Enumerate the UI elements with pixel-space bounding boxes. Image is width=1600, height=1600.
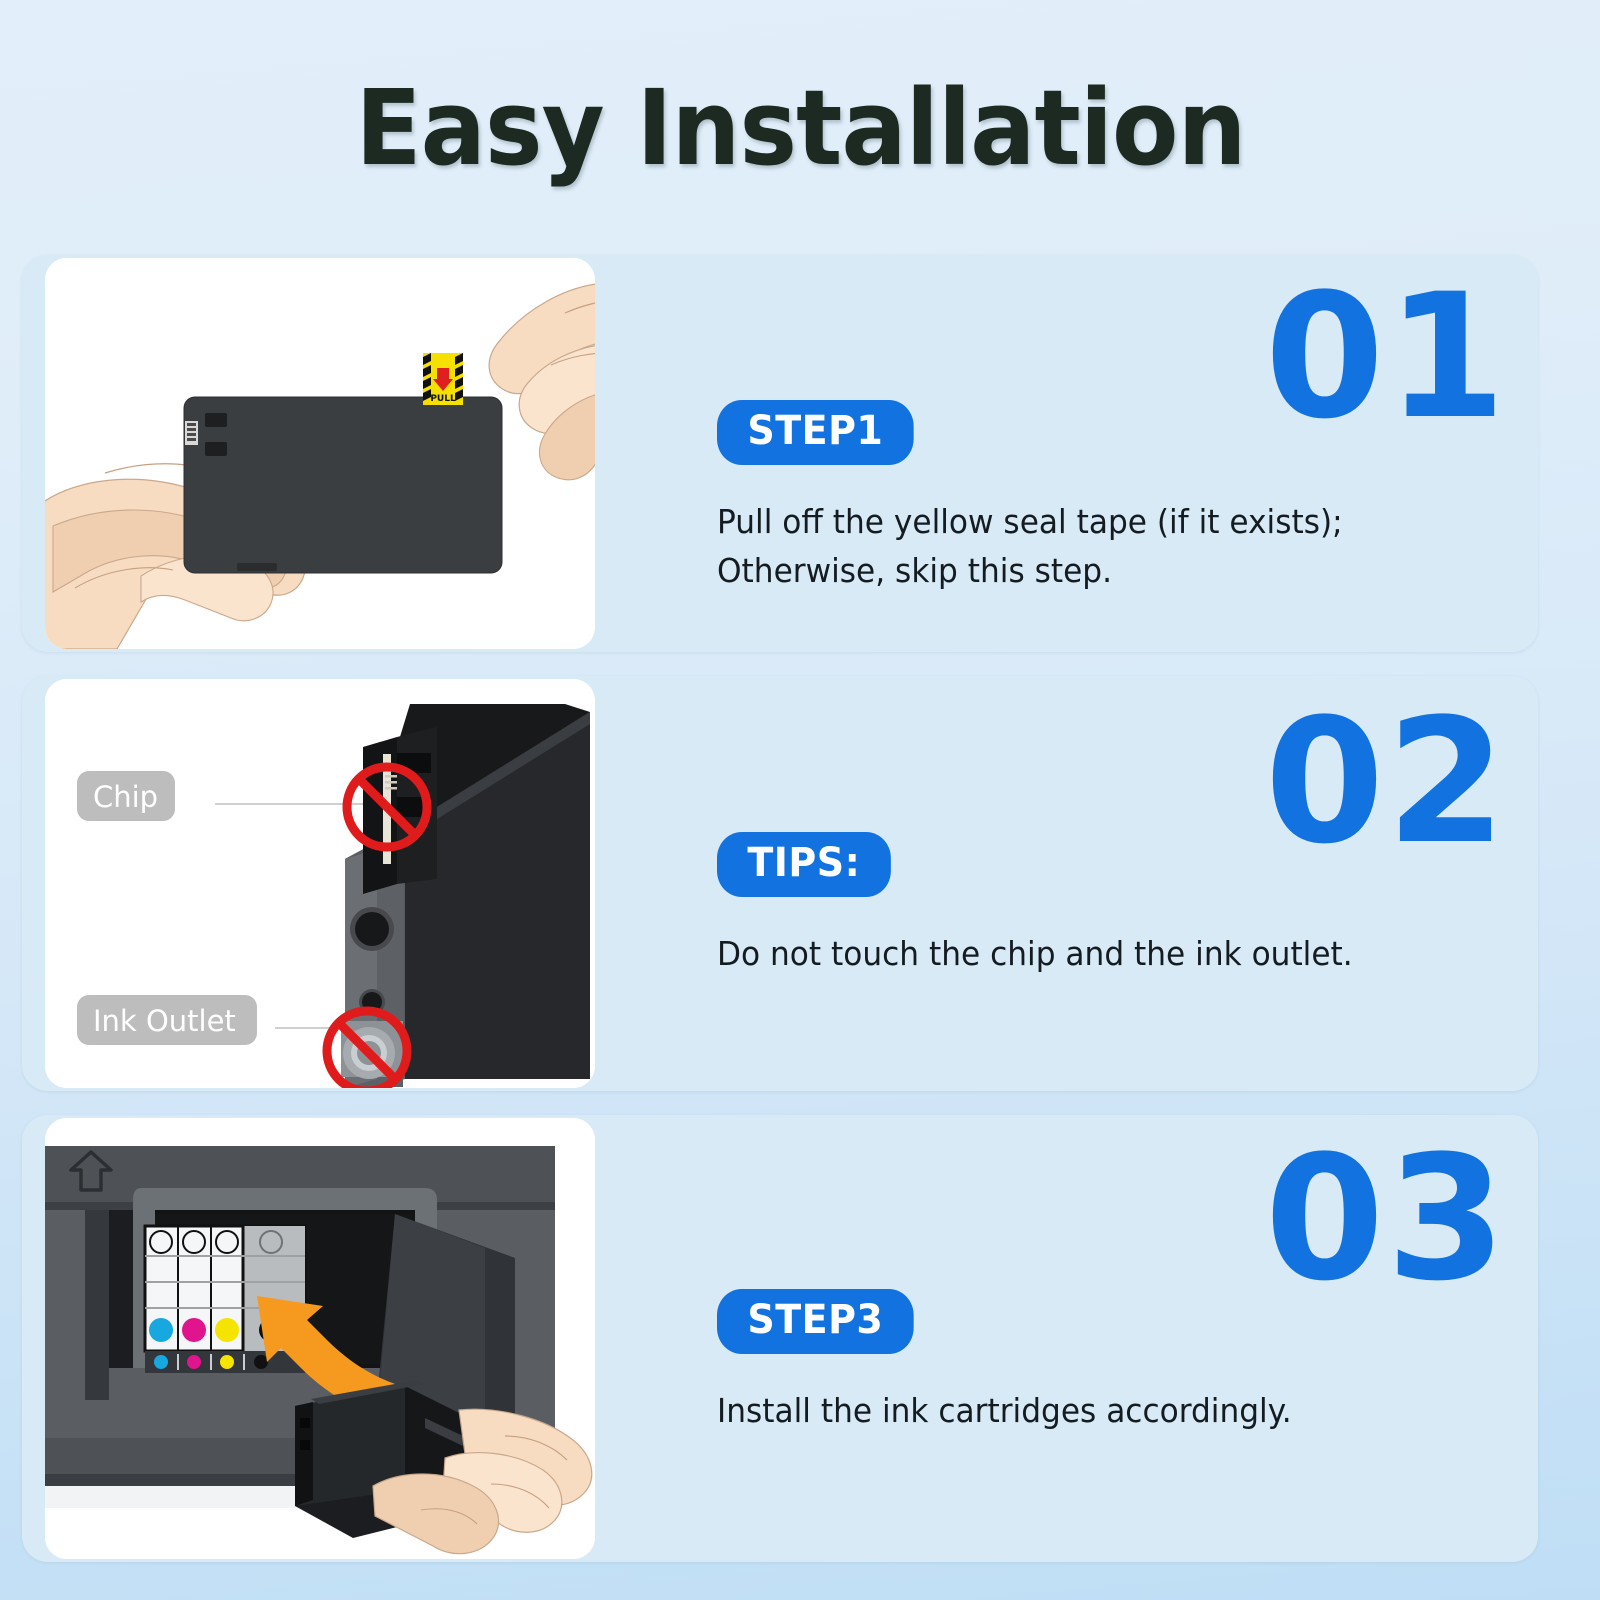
step-1-badge: STEP1 <box>717 400 914 465</box>
step-3-number: 03 <box>1265 1133 1508 1305</box>
ink-cartridge-illustration <box>184 397 502 573</box>
slot-cyan <box>149 1318 173 1342</box>
step-3-illustration <box>45 1118 595 1559</box>
step-1-number: 01 <box>1265 271 1508 443</box>
page-header: Easy Installation <box>0 74 1600 182</box>
pull-tab-icon: PULL <box>423 353 463 405</box>
page-title: Easy Installation <box>355 74 1245 182</box>
cartridge-carriage-slots <box>145 1226 305 1373</box>
chip-contacts-icon <box>185 421 198 445</box>
ink-outlet-label: Ink Outlet <box>77 995 257 1045</box>
step-1-illustration: PULL <box>45 258 595 649</box>
chip-label: Chip <box>77 771 175 821</box>
step-3-badge: STEP3 <box>717 1289 914 1354</box>
step-card-2: Chip Ink Outlet TIPS: Do not touch the c… <box>22 676 1538 1091</box>
step-card-1: PULL STEP1 Pull off the yellow seal tape… <box>22 255 1538 652</box>
slot-yellow <box>215 1318 239 1342</box>
step-3-body: Install the ink cartridges accordingly. <box>717 1387 1370 1436</box>
slot-magenta <box>182 1318 206 1342</box>
svg-text:Chip: Chip <box>93 780 158 814</box>
ink-cartridge-side-illustration <box>341 704 590 1088</box>
step-2-number: 02 <box>1265 696 1508 868</box>
step-card-3: STEP3 Install the ink cartridges accordi… <box>22 1115 1538 1562</box>
svg-text:PULL: PULL <box>430 394 456 404</box>
step-2-body: Do not touch the chip and the ink outlet… <box>717 930 1370 979</box>
step-2-illustration: Chip Ink Outlet <box>45 679 595 1088</box>
svg-text:Ink Outlet: Ink Outlet <box>93 1004 236 1038</box>
step-1-body: Pull off the yellow seal tape (if it exi… <box>717 498 1370 597</box>
step-2-badge: TIPS: <box>717 832 891 897</box>
